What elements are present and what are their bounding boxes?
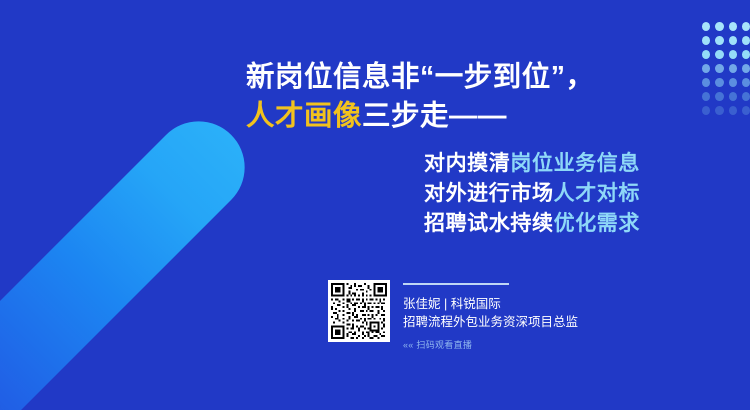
dot-icon <box>742 64 750 73</box>
dot-icon <box>742 78 750 87</box>
headline-accent-text: 人才画像 <box>246 100 362 132</box>
key-point-3-accent: 优化需求 <box>554 212 640 235</box>
dot-grid-row <box>702 22 750 31</box>
headline-line-1: 新岗位信息非“一步到位”， <box>246 58 716 97</box>
dot-icon <box>715 22 723 31</box>
key-point-1-accent: 岗位业务信息 <box>510 152 640 175</box>
dot-icon <box>702 36 710 45</box>
dot-icon <box>729 64 737 73</box>
dot-icon <box>729 22 737 31</box>
dot-icon <box>702 22 710 31</box>
dot-icon <box>742 92 750 101</box>
dot-icon <box>742 106 750 115</box>
key-point-1: 对内摸清岗位业务信息 <box>246 149 640 179</box>
dot-icon <box>715 106 723 115</box>
slide-canvas: 新岗位信息非“一步到位”， 人才画像三步走—— 对内摸清岗位业务信息 对外进行市… <box>0 0 750 410</box>
dot-icon <box>715 92 723 101</box>
dot-icon <box>729 36 737 45</box>
dot-icon <box>729 78 737 87</box>
dot-icon <box>742 50 750 59</box>
dot-icon <box>715 78 723 87</box>
speaker-role: 招聘流程外包业务资深项目总监 <box>403 313 633 331</box>
dot-grid-row <box>702 36 750 45</box>
key-point-1-plain: 对内摸清 <box>424 152 510 175</box>
key-point-2: 对外进行市场人才对标 <box>246 179 640 209</box>
key-points-block: 对内摸清岗位业务信息 对外进行市场人才对标 招聘试水持续优化需求 <box>246 149 640 239</box>
speaker-name: 张佳妮 | 科锐国际 <box>403 295 633 313</box>
diagonal-capsule-shape <box>0 102 264 410</box>
speaker-divider <box>403 283 509 285</box>
key-point-3-plain: 招聘试水持续 <box>424 212 554 235</box>
dot-icon <box>729 92 737 101</box>
key-point-3: 招聘试水持续优化需求 <box>246 209 640 239</box>
dot-icon <box>729 50 737 59</box>
scan-qr-cta[interactable]: «« 扫码观看直播 <box>403 338 633 352</box>
dot-icon <box>715 50 723 59</box>
dot-icon <box>729 106 737 115</box>
headline-line-2: 人才画像三步走—— <box>246 97 716 136</box>
dot-icon <box>742 36 750 45</box>
diagonal-capsule-decoration <box>0 40 270 410</box>
speaker-block: 张佳妮 | 科锐国际 招聘流程外包业务资深项目总监 «« 扫码观看直播 <box>403 280 633 352</box>
headline-block: 新岗位信息非“一步到位”， 人才画像三步走—— <box>246 58 716 136</box>
dot-icon <box>715 36 723 45</box>
qr-code-icon[interactable] <box>328 280 390 342</box>
dot-icon <box>715 64 723 73</box>
headline-line-2-rest: 三步走—— <box>362 100 507 132</box>
dot-icon <box>742 22 750 31</box>
key-point-2-accent: 人才对标 <box>554 182 640 205</box>
key-point-2-plain: 对外进行市场 <box>424 182 554 205</box>
